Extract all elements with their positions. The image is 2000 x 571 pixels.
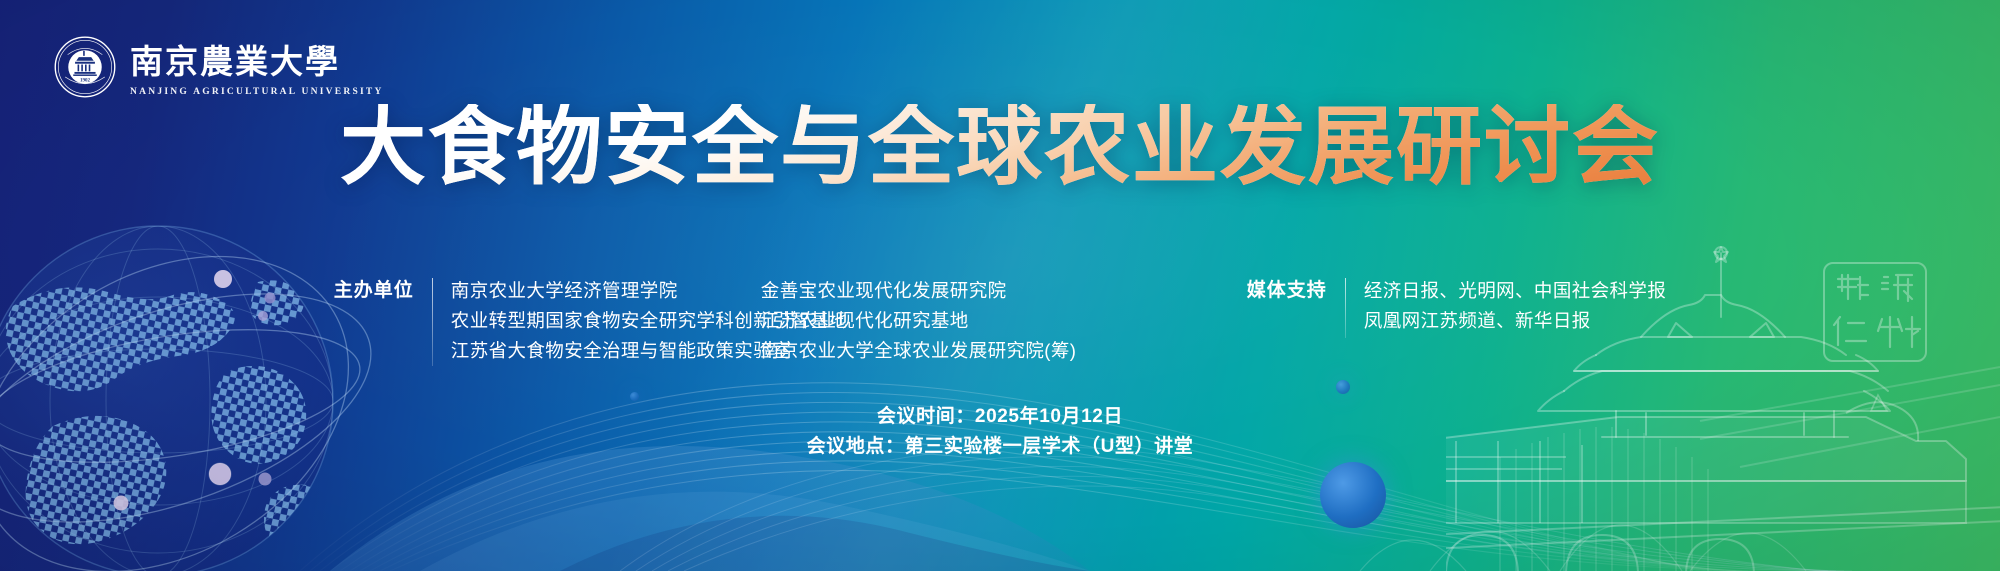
media-item: 经济日报、光明网、中国社会科学报 bbox=[1364, 276, 1666, 306]
svg-text:1902: 1902 bbox=[80, 78, 90, 83]
organizer-item: 江苏省大食物安全治理与智能政策实验室 bbox=[451, 336, 761, 366]
organizer-item: 南京农业大学经济管理学院 bbox=[451, 276, 761, 306]
university-name-chinese-calligraphy: 南京農業大學 bbox=[130, 40, 344, 82]
conference-banner: 1902 南京農業大學 NANJING AGRICULTURAL UNIVERS… bbox=[0, 0, 2000, 571]
page-title: 大食物安全与全球农业发展研讨会 bbox=[0, 104, 2000, 190]
university-logo: 1902 南京農業大學 NANJING AGRICULTURAL UNIVERS… bbox=[54, 36, 384, 98]
credits-section: 主办单位 南京农业大学经济管理学院 农业转型期国家食物安全研究学科创新引智基地 … bbox=[0, 276, 2000, 366]
university-name-block: 南京農業大學 NANJING AGRICULTURAL UNIVERSITY bbox=[130, 38, 384, 97]
decorative-dot-large bbox=[1320, 462, 1386, 528]
university-name-english: NANJING AGRICULTURAL UNIVERSITY bbox=[130, 87, 384, 97]
organizer-group: 主办单位 南京农业大学经济管理学院 农业转型期国家食物安全研究学科创新引智基地 … bbox=[334, 276, 1061, 366]
organizer-label: 主办单位 bbox=[334, 276, 414, 306]
meeting-place: 会议地点：第三实验楼一层学术（U型）讲堂 bbox=[0, 432, 2000, 462]
media-column: 经济日报、光明网、中国社会科学报 凤凰网江苏频道、新华日报 bbox=[1364, 276, 1666, 336]
media-divider bbox=[1345, 278, 1346, 338]
organizer-columns: 南京农业大学经济管理学院 农业转型期国家食物安全研究学科创新引智基地 江苏省大食… bbox=[451, 276, 1061, 366]
organizer-divider bbox=[432, 278, 433, 366]
meeting-info: 会议时间：2025年10月12日 会议地点：第三实验楼一层学术（U型）讲堂 bbox=[0, 402, 2000, 462]
organizer-column-1: 南京农业大学经济管理学院 农业转型期国家食物安全研究学科创新引智基地 江苏省大食… bbox=[451, 276, 761, 366]
meeting-time: 会议时间：2025年10月12日 bbox=[0, 402, 2000, 432]
svg-text:南京農業大學: 南京農業大學 bbox=[130, 43, 340, 81]
media-group: 媒体支持 经济日报、光明网、中国社会科学报 凤凰网江苏频道、新华日报 bbox=[1247, 276, 1666, 338]
decorative-dot-small bbox=[1336, 380, 1350, 394]
organizer-item: 农业转型期国家食物安全研究学科创新引智基地 bbox=[451, 306, 761, 336]
media-item: 凤凰网江苏频道、新华日报 bbox=[1364, 306, 1666, 336]
globe-graphic bbox=[0, 186, 388, 571]
media-label: 媒体支持 bbox=[1247, 276, 1327, 306]
organizer-item: 金善宝农业现代化发展研究院 bbox=[761, 276, 1061, 306]
organizer-item: 江苏农业现代化研究基地 bbox=[761, 306, 1061, 336]
university-seal-icon: 1902 bbox=[54, 36, 116, 98]
organizer-item: 南京农业大学全球农业发展研究院(筹) bbox=[761, 336, 1061, 366]
decorative-dot-tiny bbox=[630, 392, 639, 401]
organizer-column-2: 金善宝农业现代化发展研究院 江苏农业现代化研究基地 南京农业大学全球农业发展研究… bbox=[761, 276, 1061, 366]
